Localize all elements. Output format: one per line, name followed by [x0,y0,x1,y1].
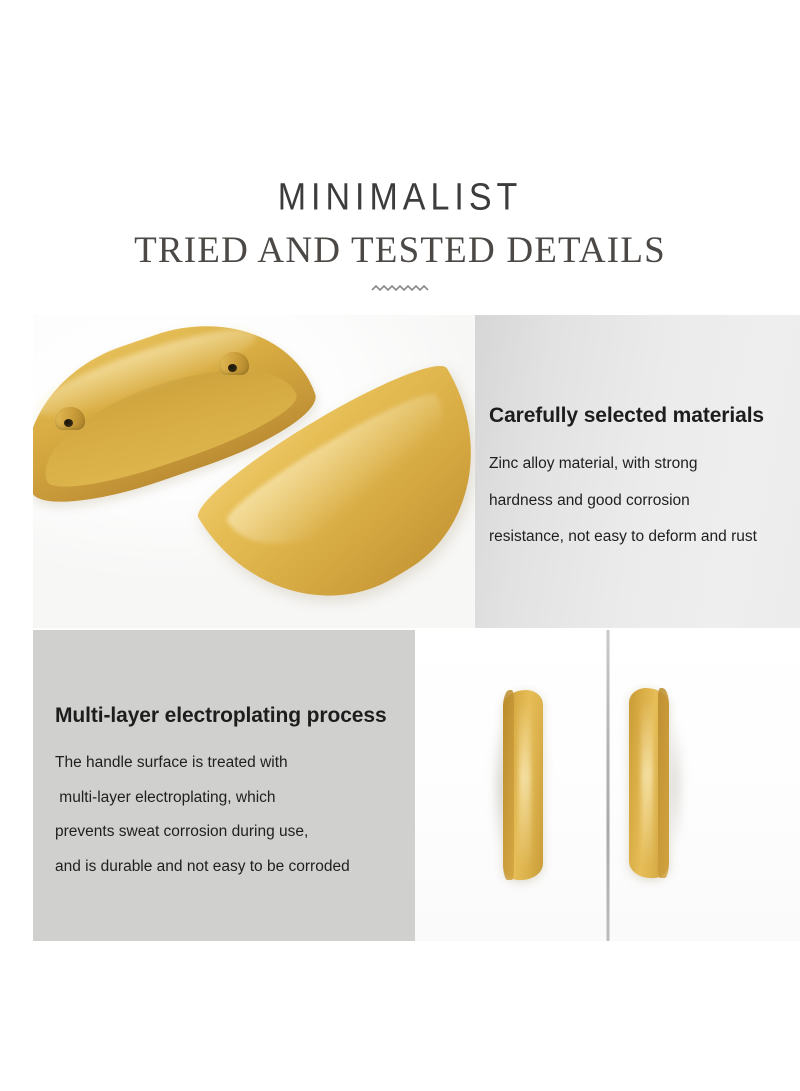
mounting-post-screw-hole [219,352,249,375]
handle-edge [658,688,669,878]
materials-text-panel: Carefully selected materials Zinc alloy … [475,315,800,628]
materials-product-photo [33,315,475,628]
handle-highlight [519,701,531,868]
header-eyebrow: MINIMALIST [0,178,800,216]
mounting-post-screw-hole [55,407,85,430]
mounted-handle-right-door [629,688,669,878]
electroplating-heading: Multi-layer electroplating process [55,703,405,728]
materials-heading: Carefully selected materials [489,403,786,428]
handle-highlight [641,699,653,866]
page-title: TRIED AND TESTED DETAILS [0,232,800,269]
body-line: Zinc alloy material, with strong [489,456,786,472]
body-line: multi-layer electroplating, which [55,790,405,806]
mounted-handle-left-door [503,690,543,880]
cabinet-door-seam [606,630,609,941]
body-line: resistance, not easy to deform and rust [489,529,786,545]
page-header: MINIMALIST TRIED AND TESTED DETAILS [0,0,800,295]
body-line: The handle surface is treated with [55,755,405,771]
electroplating-product-photo [415,630,800,941]
materials-body: Zinc alloy material, with strong hardnes… [489,456,786,545]
body-line: prevents sweat corrosion during use, [55,824,405,840]
body-line: and is durable and not easy to be corrod… [55,859,405,875]
electroplating-text-panel: Multi-layer electroplating process The h… [33,630,415,941]
body-line: hardness and good corrosion [489,493,786,509]
handle-edge [503,690,514,880]
zigzag-divider-icon [370,283,430,295]
electroplating-body: The handle surface is treated with multi… [55,755,405,874]
